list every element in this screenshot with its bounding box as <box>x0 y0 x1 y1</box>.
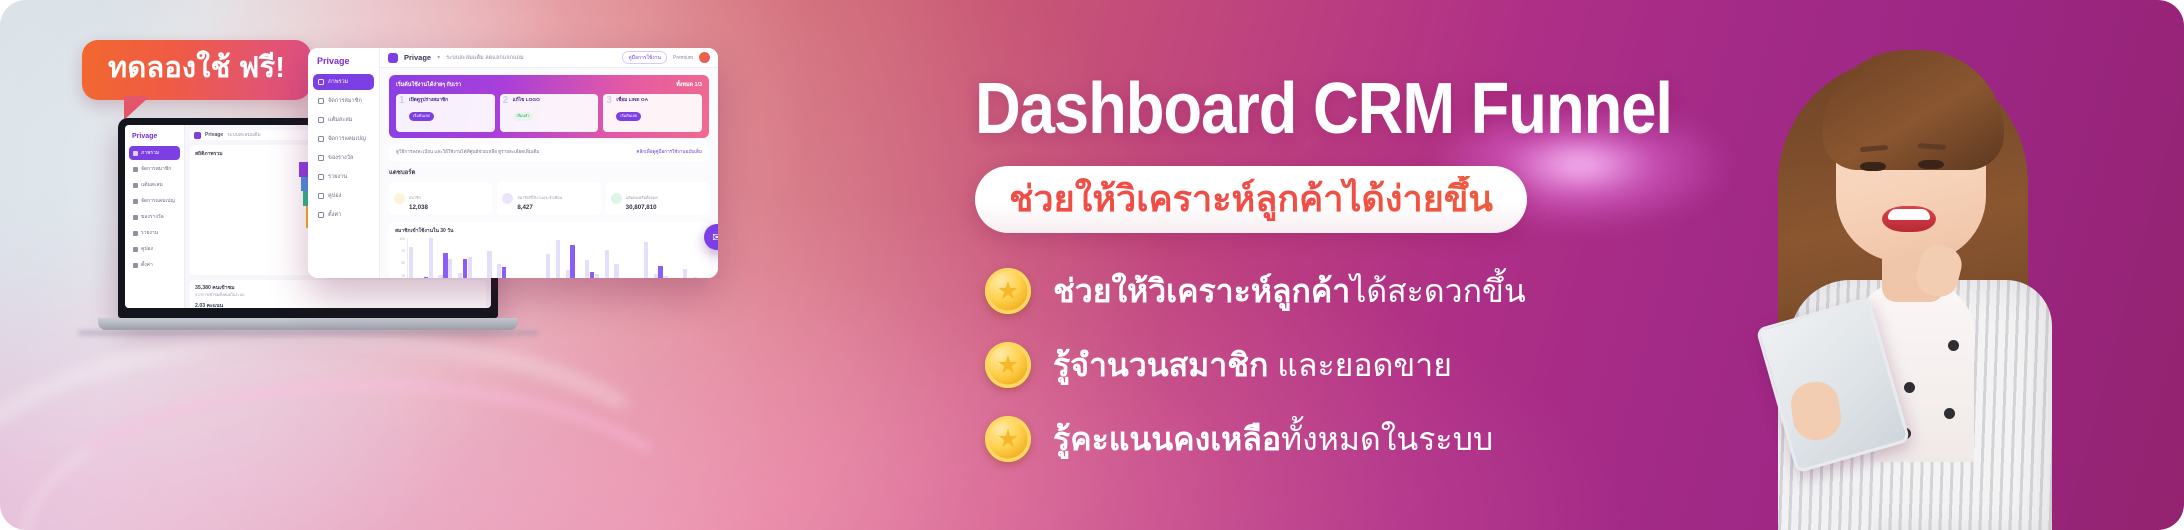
chart-bar-member <box>585 260 589 278</box>
laptop-sidebar-label-6: คูปอง <box>141 245 153 253</box>
stat-value-1: 8,427 <box>517 204 562 211</box>
stat-value-2: 30,807,810 <box>626 204 658 211</box>
chart-y-axis: 100 75 50 25 0 <box>395 238 407 278</box>
stat-label-0: สมาชิก <box>409 196 421 200</box>
promo-title-2: เชื่อม LINE OA <box>616 98 697 104</box>
subtitle-text: ช่วยให้วิเคราะห์ลูกค้าได้ง่ายขึ้น <box>1009 176 1493 221</box>
coupon-icon <box>133 247 138 252</box>
stat-value-0: 12,038 <box>409 204 428 211</box>
y-tick-25: 25 <box>401 275 405 278</box>
promo-number-1: 2 <box>503 95 509 106</box>
activity-chart-card: สมาชิกเข้าใช้งานใน 30 วัน 100 75 50 25 0… <box>389 222 709 278</box>
users-icon <box>133 167 138 172</box>
chart-plot <box>407 238 703 278</box>
promo-card-list: 1 เปิดดูรูปร่างสมาชิก เริ่มต้นเลย 2 แก้ไ… <box>396 94 702 132</box>
badge-label: ทดลองใช้ ฟรี! <box>108 53 285 85</box>
laptop-footer-value-0: 35,380 คนเข้าชม <box>195 284 481 292</box>
promo-card-2[interactable]: 3 เชื่อม LINE OA เริ่มต้นเลย <box>603 94 702 132</box>
promo-heading: เริ่มต้นใช้งานได้ง่ายๆ กับเรา <box>396 81 461 89</box>
chart-bar-member <box>605 250 609 278</box>
dashboard-screen-mockup: Privage ภาพรวม จัดการสมาชิก แต้มสะสม จัด… <box>308 48 718 278</box>
stat-card-list: สมาชิก 12,038 สมาชิกที่ใช้งานประจำเดือน … <box>389 182 709 215</box>
model-button-4 <box>1948 340 1959 351</box>
subtitle-pill: ช่วยให้วิเคราะห์ลูกค้าได้ง่ายขึ้น <box>975 166 1527 233</box>
chart-bar-member <box>409 247 413 278</box>
onboarding-promo: เริ่มต้นใช้งานได้ง่ายๆ กับเรา ทั้งหมด 1/… <box>389 75 709 138</box>
laptop-footer-value-1: 2.03 คะแนน <box>195 302 481 308</box>
campaign-icon <box>133 199 138 204</box>
benefit-rest-0: ได้สะดวกขึ้น <box>1350 273 1525 309</box>
laptop-sidebar-label-5: รายงาน <box>141 229 158 237</box>
chart-bar-group <box>507 238 516 278</box>
promo-button-2[interactable]: เริ่มต้นเลย <box>616 112 641 121</box>
users-group-icon <box>502 193 513 204</box>
page-title: Dashboard CRM Funnel <box>975 68 1672 150</box>
star-coin-icon: ★ <box>985 342 1031 388</box>
sidebar-label-4: ของรางวัล <box>328 154 353 162</box>
chart-bar-group <box>683 238 692 278</box>
chart-bar-group <box>477 238 486 278</box>
sidebar-label-7: ตั้งค่า <box>328 211 341 219</box>
app-body: เริ่มต้นใช้งานได้ง่ายๆ กับเรา ทั้งหมด 1/… <box>380 68 718 278</box>
chart-bar-group <box>585 238 594 278</box>
benefit-item-1: ★ รู้จำนวนสมาชิก และยอดขาย <box>985 342 1526 388</box>
app-topbar: Privage ▾ ระบบสะสมแต้ม ลดแลกแจกแถม คู่มื… <box>380 48 718 68</box>
laptop-sidebar-item-1[interactable]: จัดการสมาชิก <box>129 162 180 176</box>
chart-bar-member <box>468 257 472 278</box>
laptop-brand-chip-icon <box>194 132 201 139</box>
model-hair-front <box>1822 50 2004 170</box>
gear-icon <box>318 212 324 218</box>
promo-header: เริ่มต้นใช้งานได้ง่ายๆ กับเรา ทั้งหมด 1/… <box>396 81 702 89</box>
chart-bar-group <box>517 238 526 278</box>
brand-chip-icon <box>388 53 398 63</box>
coupon-icon <box>318 193 324 199</box>
chart-bar-visited <box>570 245 574 278</box>
badge-tail-icon <box>124 96 150 120</box>
gift-icon <box>318 155 324 161</box>
chart-bar-member <box>663 276 667 278</box>
benefit-item-2: ★ รู้คะแนนคงเหลือทั้งหมดในระบบ <box>985 416 1526 462</box>
badge-bubble[interactable]: ทดลองใช้ ฟรี! <box>82 40 311 100</box>
chart-bar-group <box>409 238 418 278</box>
benefit-text-2: รู้คะแนนคงเหลือทั้งหมดในระบบ <box>1053 419 1493 459</box>
sidebar-item-reports[interactable]: รายงาน <box>313 169 374 185</box>
chart-bar-member <box>497 264 501 279</box>
chart-bar-group <box>624 238 633 278</box>
laptop-footer-stats: 35,380 คนเข้าชม จากการเข้าชมทั้งหมดในระบ… <box>190 280 486 308</box>
laptop-sidebar-item-4[interactable]: ของรางวัล <box>129 210 180 224</box>
coin-icon <box>318 117 324 123</box>
chart-title: สมาชิกเข้าใช้งานใน 30 วัน <box>395 227 703 235</box>
chart-bar-member <box>546 254 550 278</box>
promo-button-1[interactable]: เริ่มแล้ว <box>513 112 534 121</box>
chart-bar-member <box>448 259 452 278</box>
sidebar-item-settings[interactable]: ตั้งค่า <box>313 207 374 223</box>
model-button-3 <box>1944 408 1955 419</box>
help-note: ดูวิธีการลงทะเบียน และวิธีใช้งานได้ที่ศู… <box>389 144 709 161</box>
laptop-sidebar-label-3: จัดการแคมเปญ <box>141 197 175 205</box>
laptop-sidebar-item-7[interactable]: ตั้งค่า <box>129 258 180 272</box>
topbar-brand: Privage <box>404 53 431 62</box>
chart-bar-group <box>566 238 575 278</box>
chart-bar-member <box>654 274 658 278</box>
model-button-1 <box>1904 382 1915 393</box>
laptop-sidebar-item-5[interactable]: รายงาน <box>129 226 180 240</box>
chart-bar-group <box>429 238 438 278</box>
benefit-text-1: รู้จำนวนสมาชิก และยอดขาย <box>1053 345 1452 385</box>
sidebar-label-0: ภาพรวม <box>328 78 348 86</box>
promo-card-0[interactable]: 1 เปิดดูรูปร่างสมาชิก เริ่มต้นเลย <box>396 94 495 132</box>
report-icon <box>133 231 138 236</box>
app-logo: Privage <box>317 56 374 66</box>
stat-card-active: สมาชิกที่ใช้งานประจำเดือน 8,427 <box>497 182 600 215</box>
promo-button-0[interactable]: เริ่มต้นเลย <box>409 112 434 121</box>
laptop-sidebar-item-0[interactable]: ภาพรวม <box>129 146 180 160</box>
model-eye-right <box>1918 160 1944 169</box>
stat-label-1: สมาชิกที่ใช้งานประจำเดือน <box>517 196 562 200</box>
y-tick-75: 75 <box>401 250 405 253</box>
chart-bar-member <box>683 269 687 278</box>
stat-card-points: แต้มคงเหลือทั้งหมด 30,807,810 <box>606 182 709 215</box>
sidebar-item-overview[interactable]: ภาพรวม <box>313 74 374 90</box>
benefit-list: ★ ช่วยให้วิเคราะห์ลูกค้าได้สะดวกขึ้น ★ ร… <box>985 268 1526 490</box>
chart-bar-group <box>458 238 467 278</box>
sidebar-label-6: คูปอง <box>328 192 341 200</box>
chart-bar-group <box>438 238 447 278</box>
topbar-select-value[interactable]: ระบบสะสมแต้ม ลดแลกแจกแถม <box>446 54 524 62</box>
chart-bar-visited <box>590 272 594 278</box>
app-sidebar: Privage ภาพรวม จัดการสมาชิก แต้มสะสม จัด… <box>308 48 380 278</box>
chart-bar-member <box>556 240 560 278</box>
laptop-sidebar-item-6[interactable]: คูปอง <box>129 242 180 256</box>
star-coin-icon: ★ <box>985 268 1031 314</box>
sidebar-item-campaigns[interactable]: จัดการแคมเปญ <box>313 131 374 147</box>
y-tick-100: 100 <box>400 238 405 241</box>
sidebar-label-5: รายงาน <box>328 173 347 181</box>
chart-bar-group <box>468 238 477 278</box>
chart-bar-group <box>526 238 535 278</box>
avatar[interactable] <box>699 52 710 63</box>
y-tick-50: 50 <box>401 262 405 265</box>
benefit-text-0: ช่วยให้วิเคราะห์ลูกค้าได้สะดวกขึ้น <box>1053 271 1526 311</box>
grid-icon <box>318 79 324 85</box>
campaign-icon <box>318 136 324 142</box>
decorative-swoosh-secondary <box>20 380 720 530</box>
plan-badge: Premium <box>673 55 693 61</box>
free-trial-badge[interactable]: ทดลองใช้ ฟรี! <box>82 40 311 100</box>
chart-bar-group <box>497 238 506 278</box>
chart-bar-group <box>644 238 653 278</box>
benefit-bold-1: รู้จำนวนสมาชิก <box>1053 347 1268 383</box>
sidebar-label-2: แต้มสะสม <box>328 116 352 124</box>
promo-title-1: แก้ไข LOGO <box>513 98 594 104</box>
coin-icon <box>133 183 138 188</box>
laptop-topbar-select[interactable]: ระบบสะสมแต้ม <box>227 131 261 139</box>
chart-bar-group <box>605 238 614 278</box>
laptop-footer-stat-1: 2.03 คะแนน คะแนนเฉลี่ยต่อสมาชิก <box>195 302 481 308</box>
chart-bar-group <box>614 238 623 278</box>
laptop-sidebar-label-2: แต้มสะสม <box>141 181 163 189</box>
decorative-swoosh <box>0 330 700 530</box>
gift-icon <box>133 215 138 220</box>
sidebar-item-points[interactable]: แต้มสะสม <box>313 112 374 128</box>
chart-bar-member <box>614 264 618 279</box>
help-note-link[interactable]: คลิกเพื่อดูคู่มือการใช้งานฉบับเต็ม <box>636 149 702 156</box>
laptop-footer-stat-0: 35,380 คนเข้าชม จากการเข้าชมทั้งหมดในระบ… <box>195 284 481 298</box>
user-icon <box>394 193 405 204</box>
laptop-sidebar-item-2[interactable]: แต้มสะสม <box>129 178 180 192</box>
sidebar-item-rewards[interactable]: ของรางวัล <box>313 150 374 166</box>
laptop-sidebar-label-7: ตั้งค่า <box>141 261 153 269</box>
laptop-sidebar-label-0: ภาพรวม <box>141 149 159 157</box>
promo-number-2: 3 <box>606 95 612 106</box>
report-icon <box>318 174 324 180</box>
laptop-topbar-brand: Privage <box>205 132 223 138</box>
benefit-rest-2: ทั้งหมดในระบบ <box>1281 421 1493 457</box>
sidebar-label-3: จัดการแคมเปญ <box>328 135 366 143</box>
dashboard-title: แดชบอร์ด <box>389 167 709 177</box>
chart-bar-member <box>693 277 697 278</box>
chart-bar-visited <box>443 253 447 278</box>
promo-number-0: 1 <box>399 95 405 106</box>
app-main: Privage ▾ ระบบสะสมแต้ม ลดแลกแจกแถม คู่มื… <box>380 48 718 278</box>
chart-bar-group <box>673 238 682 278</box>
help-note-text: ดูวิธีการลงทะเบียน และวิธีใช้งานได้ที่ศู… <box>396 149 539 156</box>
star-coin-icon: ★ <box>985 416 1031 462</box>
chevron-down-icon[interactable]: ▾ <box>437 54 440 61</box>
benefit-bold-0: ช่วยให้วิเคราะห์ลูกค้า <box>1053 273 1350 309</box>
help-button[interactable]: คู่มือการใช้งาน <box>622 51 667 64</box>
chart-bar-group <box>654 238 663 278</box>
chart-area: 100 75 50 25 0 <box>395 238 703 278</box>
stat-card-members: สมาชิก 12,038 <box>389 182 492 215</box>
chart-bar-member <box>566 270 570 278</box>
coin-stack-icon <box>611 193 622 204</box>
laptop-sidebar-item-3[interactable]: จัดการแคมเปญ <box>129 194 180 208</box>
users-icon <box>318 98 324 104</box>
sidebar-label-1: จัดการสมาชิก <box>328 97 362 105</box>
chart-bar-group <box>487 238 496 278</box>
chart-bar-member <box>595 274 599 278</box>
stat-label-2: แต้มคงเหลือทั้งหมด <box>626 196 658 200</box>
laptop-shadow <box>78 330 538 336</box>
grid-icon <box>133 151 138 156</box>
promo-heading-right: ทั้งหมด 1/3 <box>676 81 702 89</box>
benefit-item-0: ★ ช่วยให้วิเคราะห์ลูกค้าได้สะดวกขึ้น <box>985 268 1526 314</box>
chart-bar-member <box>458 273 462 278</box>
chart-bar-group <box>556 238 565 278</box>
chart-bar-group <box>595 238 604 278</box>
model-eye-left <box>1860 162 1886 171</box>
chart-bar-group <box>419 238 428 278</box>
gear-icon <box>133 263 138 268</box>
chart-bar-visited <box>502 267 506 278</box>
laptop-sidebar-label-1: จัดการสมาชิก <box>141 165 171 173</box>
sidebar-item-members[interactable]: จัดการสมาชิก <box>313 93 374 109</box>
model-photo <box>1686 10 2106 530</box>
laptop-sidebar-label-4: ของรางวัล <box>141 213 164 221</box>
promo-banner: ทดลองใช้ ฟรี! Privage ภาพรวม จัดการสมาชิ… <box>0 0 2184 530</box>
laptop-footer-label-0: จากการเข้าชมทั้งหมดในระบบ <box>195 292 481 298</box>
chart-bar-member <box>429 238 433 278</box>
chart-bar-group <box>634 238 643 278</box>
benefit-rest-1: และยอดขาย <box>1268 347 1452 383</box>
chart-bar-visited <box>463 259 467 278</box>
chart-bar-group <box>575 238 584 278</box>
chart-bar-member <box>487 251 491 278</box>
chart-bar-group <box>693 238 702 278</box>
laptop-base <box>98 318 518 330</box>
model-teeth <box>1888 209 1930 220</box>
sidebar-item-coupons[interactable]: คูปอง <box>313 188 374 204</box>
chart-bar-member <box>644 242 648 278</box>
promo-title-0: เปิดดูรูปร่างสมาชิก <box>409 98 490 104</box>
chart-bar-visited <box>658 266 662 278</box>
benefit-bold-2: รู้คะแนนคงเหลือ <box>1053 421 1281 457</box>
copy-block: Dashboard CRM Funnel ช่วยให้วิเคราะห์ลูก… <box>975 0 1755 530</box>
chart-bar-group <box>546 238 555 278</box>
chart-bar-group <box>663 238 672 278</box>
promo-card-1[interactable]: 2 แก้ไข LOGO เริ่มแล้ว <box>500 94 599 132</box>
laptop-sidebar: Privage ภาพรวม จัดการสมาชิก แต้มสะสม จัด… <box>125 125 185 308</box>
chart-bar-group <box>536 238 545 278</box>
chart-bar-member <box>438 275 442 278</box>
laptop-logo: Privage <box>132 133 180 140</box>
chart-bar-group <box>448 238 457 278</box>
chart-bar-visited <box>424 277 428 278</box>
